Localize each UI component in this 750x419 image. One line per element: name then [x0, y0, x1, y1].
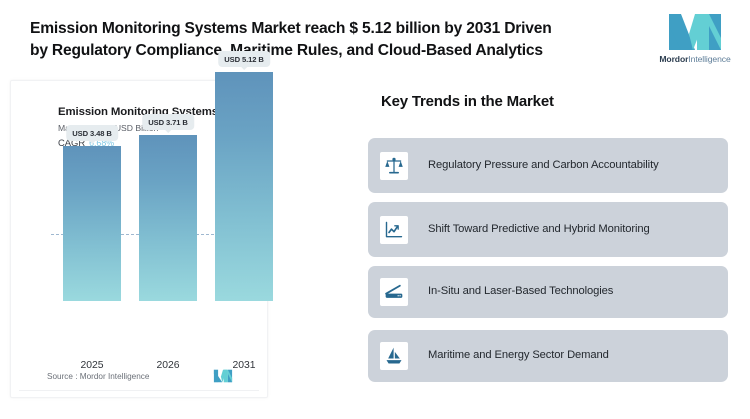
bar-2031 — [215, 72, 273, 301]
brand-logo: MordorIntelligence — [652, 12, 738, 72]
mordor-m-logo-icon — [667, 12, 723, 52]
bars-container: USD 3.48 B USD 3.71 B USD 5.12 B — [11, 81, 269, 349]
bar-value-label-2: USD 5.12 B — [218, 51, 270, 67]
trend-card-maritime-energy[interactable]: Maritime and Energy Sector Demand — [368, 330, 728, 382]
chart-source: Source : Mordor Intelligence — [47, 369, 247, 383]
card-divider — [19, 390, 259, 391]
bar-value-label-0: USD 3.48 B — [66, 125, 118, 141]
headline-line-1: Emission Monitoring Systems Market reach… — [30, 18, 646, 40]
bar-2026 — [139, 135, 197, 301]
trend-label-3: Maritime and Energy Sector Demand — [428, 348, 609, 363]
brand-name: MordorIntelligence — [659, 55, 730, 64]
bar-2025 — [63, 146, 121, 301]
page-title: Emission Monitoring Systems Market reach… — [30, 18, 646, 62]
trend-label-0: Regulatory Pressure and Carbon Accountab… — [428, 158, 659, 173]
headline-line-2: by Regulatory Compliance, Maritime Rules… — [30, 40, 646, 62]
line-chart-up-icon — [380, 216, 408, 244]
header: Emission Monitoring Systems Market reach… — [0, 0, 750, 78]
trend-card-insitu-laser[interactable]: In-Situ and Laser-Based Technologies — [368, 266, 728, 318]
bar-value-label-1: USD 3.71 B — [142, 114, 194, 130]
trends-section-title: Key Trends in the Market — [381, 93, 554, 110]
bar-chart-plot: USD 3.48 B USD 3.71 B USD 5.12 B 2025 20… — [11, 81, 269, 399]
infographic-page: Emission Monitoring Systems Market reach… — [0, 0, 750, 419]
bar-column-0: USD 3.48 B — [63, 146, 121, 301]
market-size-chart-card: Emission Monitoring Systems Market Marke… — [10, 80, 268, 398]
mordor-m-logo-icon — [213, 369, 233, 383]
balance-scale-icon — [380, 152, 408, 180]
brand-name-light: Intelligence — [688, 54, 730, 64]
trend-card-regulatory-pressure[interactable]: Regulatory Pressure and Carbon Accountab… — [368, 138, 728, 193]
brand-name-bold: Mordor — [659, 54, 688, 64]
bar-column-1: USD 3.71 B — [139, 135, 197, 301]
bar-column-2: USD 5.12 B — [215, 72, 273, 301]
trend-label-2: In-Situ and Laser-Based Technologies — [428, 284, 613, 299]
laser-scanner-icon — [380, 278, 408, 306]
sailboat-icon — [380, 342, 408, 370]
source-label: Source : Mordor Intelligence — [47, 372, 149, 381]
trend-card-predictive-monitoring[interactable]: Shift Toward Predictive and Hybrid Monit… — [368, 202, 728, 257]
trend-label-1: Shift Toward Predictive and Hybrid Monit… — [428, 222, 650, 237]
